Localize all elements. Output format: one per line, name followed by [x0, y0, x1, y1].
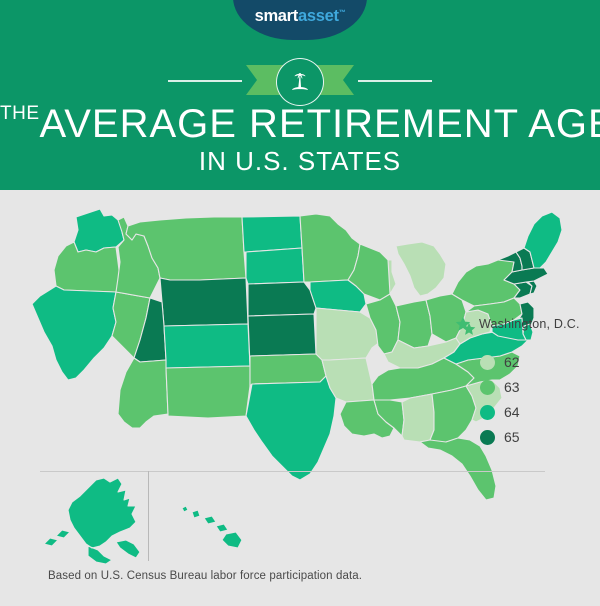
page-title-line1: THEAVERAGE RETIREMENT AGE [0, 104, 600, 144]
ribbon-rule-left [168, 80, 242, 82]
page-title-main: AVERAGE RETIREMENT AGE [40, 102, 600, 146]
map-legend: Washington, D.C. 62 63 64 65 [455, 316, 580, 454]
logo-wordmark-secondary: asset [298, 7, 339, 25]
legend-item-62[interactable]: 62 [480, 354, 580, 370]
legend-label-65: 65 [504, 429, 520, 445]
legend-swatch-65 [480, 430, 495, 445]
state-HI[interactable] [182, 506, 242, 548]
state-WY[interactable] [160, 278, 248, 326]
state-MN[interactable] [300, 214, 360, 282]
legend-label-63: 63 [504, 379, 520, 395]
legend-swatch-list: 62 63 64 65 [480, 354, 580, 445]
state-ND[interactable] [242, 216, 302, 252]
logo-wordmark: smartasset™ [255, 7, 346, 40]
legend-dc-label: Washington, D.C. [479, 317, 580, 331]
page-title-eyebrow: THE [0, 103, 40, 124]
legend-label-62: 62 [504, 354, 520, 370]
legend-swatch-62 [480, 355, 495, 370]
inset-divider-vertical [148, 471, 149, 561]
page-title-line2: IN U.S. STATES [0, 148, 600, 174]
palm-tree-icon [287, 69, 313, 95]
dc-star-marker[interactable] [462, 322, 476, 336]
state-AK[interactable] [44, 478, 140, 564]
ribbon-rule-right [358, 80, 432, 82]
footer: Based on U.S. Census Bureau labor force … [0, 566, 600, 584]
state-AZ[interactable] [118, 358, 168, 428]
inset-divider-horizontal [40, 471, 545, 472]
legend-swatch-63 [480, 380, 495, 395]
header-banner: smartasset™ [0, 0, 600, 190]
legend-item-65[interactable]: 65 [480, 429, 580, 445]
state-AL[interactable] [402, 394, 434, 442]
infographic-page: smartasset™ [0, 0, 600, 606]
state-CA[interactable] [32, 286, 116, 380]
legend-swatch-64 [480, 405, 495, 420]
ribbon-ornament [0, 58, 600, 104]
logo-wordmark-primary: smart [255, 7, 298, 25]
legend-item-63[interactable]: 63 [480, 379, 580, 395]
state-TX[interactable] [246, 376, 336, 480]
state-CO[interactable] [164, 324, 250, 368]
trademark-symbol: ™ [339, 10, 346, 17]
state-NM[interactable] [166, 366, 250, 418]
legend-item-64[interactable]: 64 [480, 404, 580, 420]
state-IN[interactable] [396, 300, 432, 348]
legend-label-64: 64 [504, 404, 520, 420]
palm-tree-medallion [276, 58, 324, 106]
smartasset-logo[interactable]: smartasset™ [233, 0, 367, 40]
state-SD[interactable] [246, 248, 304, 284]
state-MI[interactable] [388, 242, 446, 296]
state-OK[interactable] [250, 354, 326, 386]
source-note: Based on U.S. Census Bureau labor force … [48, 570, 362, 582]
